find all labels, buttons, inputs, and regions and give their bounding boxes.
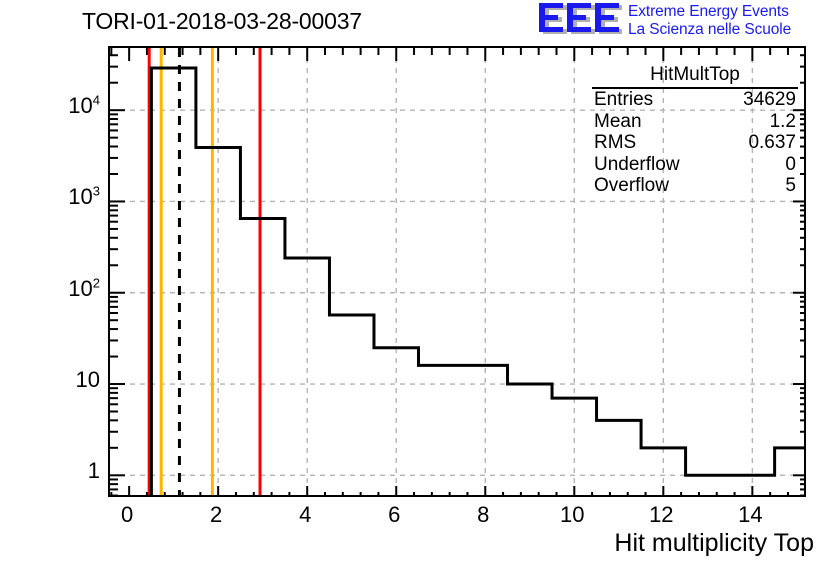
stats-row: Entries34629 [592,89,798,111]
y-tick-label: 10 [76,367,100,393]
stats-row-value: 1.2 [770,111,796,133]
eee-logo-mark [536,2,622,38]
stats-row: Overflow5 [592,175,798,197]
stats-rows: Entries34629Mean1.2RMS0.637Underflow0Ove… [592,89,798,197]
x-tick-label: 12 [631,502,691,528]
x-tick-label: 14 [720,502,780,528]
stats-row: Mean1.2 [592,111,798,133]
page-title: TORI-01-2018-03-28-00037 [82,8,362,35]
x-axis-title: Hit multiplicity Top [614,529,814,558]
x-tick-label: 10 [542,502,602,528]
stats-row-key: Underflow [594,154,680,176]
x-tick-label: 4 [275,502,335,528]
y-tick-label: 104 [68,93,100,119]
stats-row-value: 0 [785,154,796,176]
stats-row: RMS0.637 [592,132,798,154]
x-tick-label: 6 [364,502,424,528]
y-tick-label: 1 [88,458,100,484]
eee-logo-line1: Extreme Energy Events [628,3,791,21]
x-tick-label: 8 [453,502,513,528]
eee-logo: Extreme Energy Events La Scienza nelle S… [536,2,832,42]
stats-row-key: Mean [594,111,642,133]
eee-logo-line2: La Scienza nelle Scuole [628,21,791,39]
stats-row: Underflow0 [592,154,798,176]
stats-title: HitMultTop [592,64,798,89]
root-canvas: TORI-01-2018-03-28-00037 [0,0,836,572]
stats-row-value: 5 [785,175,796,197]
x-tick-label: 2 [186,502,246,528]
y-tick-label: 103 [68,184,100,210]
stats-box: HitMultTop Entries34629Mean1.2RMS0.637Un… [592,64,798,197]
stats-row-value: 0.637 [748,132,796,154]
x-tick-label: 0 [97,502,157,528]
stats-row-key: Overflow [594,175,669,197]
stats-row-value: 34629 [743,89,796,111]
stats-row-key: RMS [594,132,636,154]
stats-row-key: Entries [594,89,653,111]
eee-logo-text: Extreme Energy Events La Scienza nelle S… [628,3,791,38]
y-tick-label: 102 [68,276,100,302]
